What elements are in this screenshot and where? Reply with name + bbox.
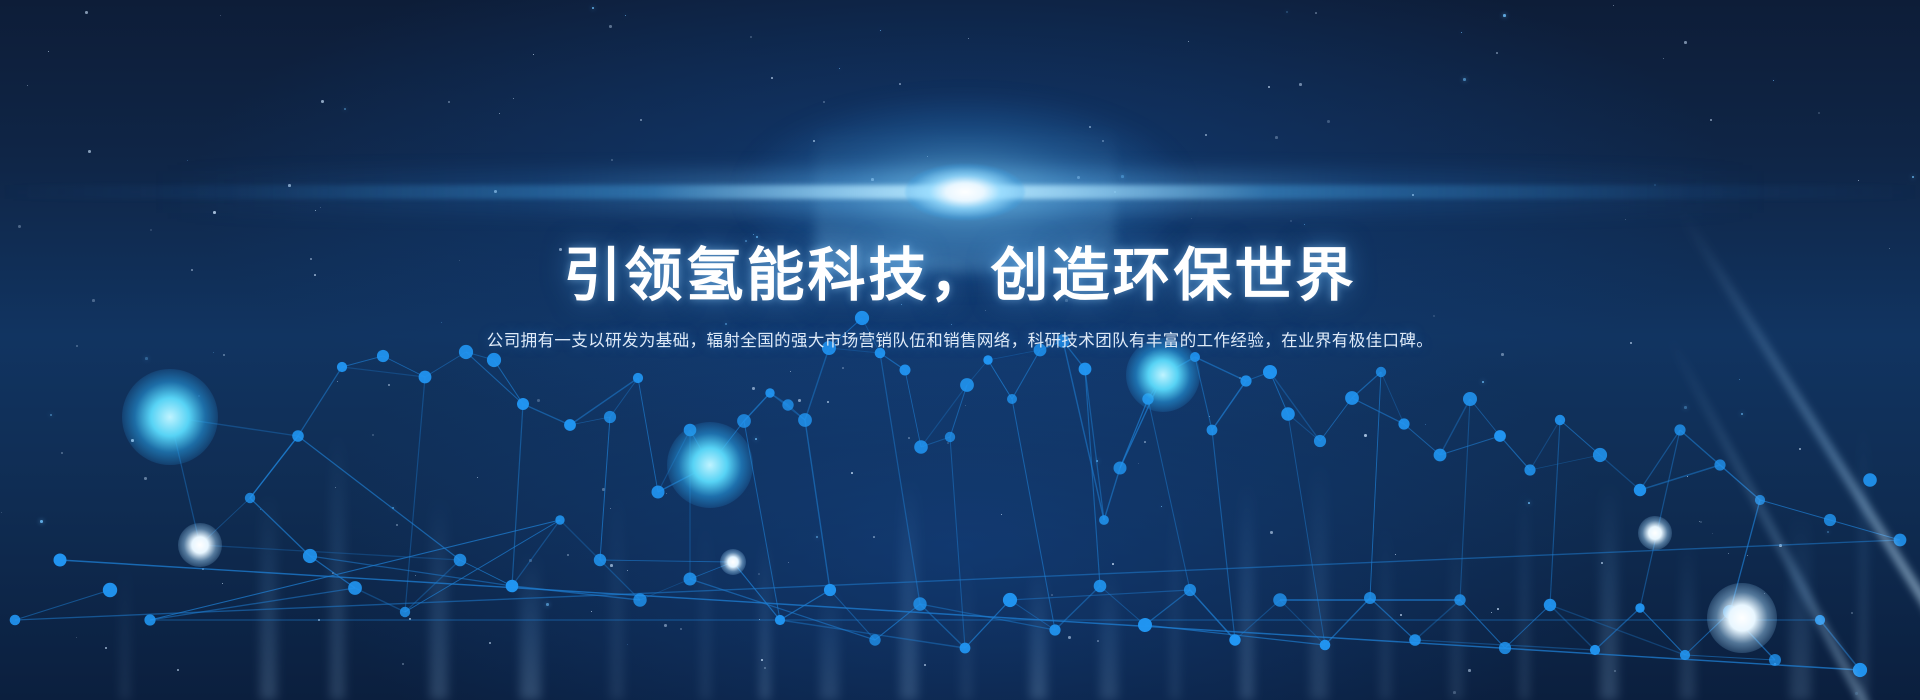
glow-node-cyan-left [122,369,218,465]
mesh-nodes [10,311,1907,677]
glow-node-white-bottom-right [1707,583,1777,653]
glow-node-white-right-top [1638,516,1672,550]
hero-text-block: 引领氢能科技，创造环保世界 公司拥有一支以研发为基础，辐射全国的强大市场营销队伍… [0,244,1920,354]
lens-flare-core [905,164,1025,220]
page-subtitle: 公司拥有一支以研发为基础，辐射全国的强大市场营销队伍和销售网络，科研技术团队有丰… [0,329,1920,354]
page-title: 引领氢能科技，创造环保世界 [0,244,1920,309]
glow-node-white-left [178,523,222,567]
glow-node-white-low-center [720,549,746,575]
hero-banner: 引领氢能科技，创造环保世界 公司拥有一支以研发为基础，辐射全国的强大市场营销队伍… [0,0,1920,700]
glow-node-cyan-center [667,422,753,508]
mesh-edges [15,318,1900,670]
